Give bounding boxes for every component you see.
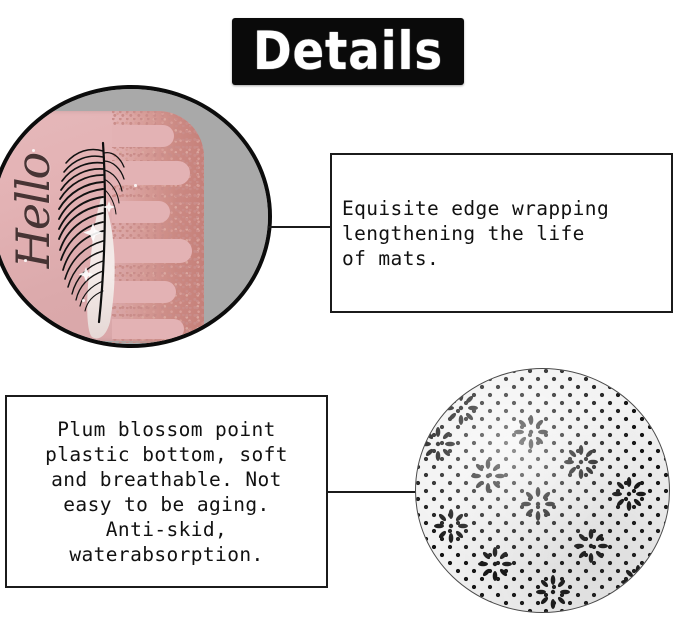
product-photo-mat-edge: Hello	[0, 85, 272, 348]
detail-page: Details	[0, 0, 679, 619]
feather-motif-icon	[46, 117, 156, 342]
page-title-banner: Details	[232, 18, 464, 85]
callout-plastic-bottom: Plum blossom point plastic bottom, soft …	[5, 395, 328, 588]
mat-hello-script-text: Hello	[6, 154, 60, 268]
connector-line-bottom	[326, 491, 418, 493]
sparkle-dot	[134, 184, 137, 187]
sparkle-dot	[24, 259, 27, 262]
callout-edge-wrapping: Equisite edge wrapping lengthening the l…	[330, 153, 673, 313]
page-title: Details	[253, 25, 443, 78]
connector-line-top	[268, 226, 332, 228]
callout-edge-wrapping-text: Equisite edge wrapping lengthening the l…	[332, 196, 671, 271]
sparkle-dot	[32, 149, 35, 152]
photo-shading-overlay	[416, 369, 669, 612]
product-photo-antiskid-backing	[415, 368, 670, 613]
sparkle-dot	[82, 299, 85, 302]
callout-plastic-bottom-text: Plum blossom point plastic bottom, soft …	[7, 417, 326, 567]
